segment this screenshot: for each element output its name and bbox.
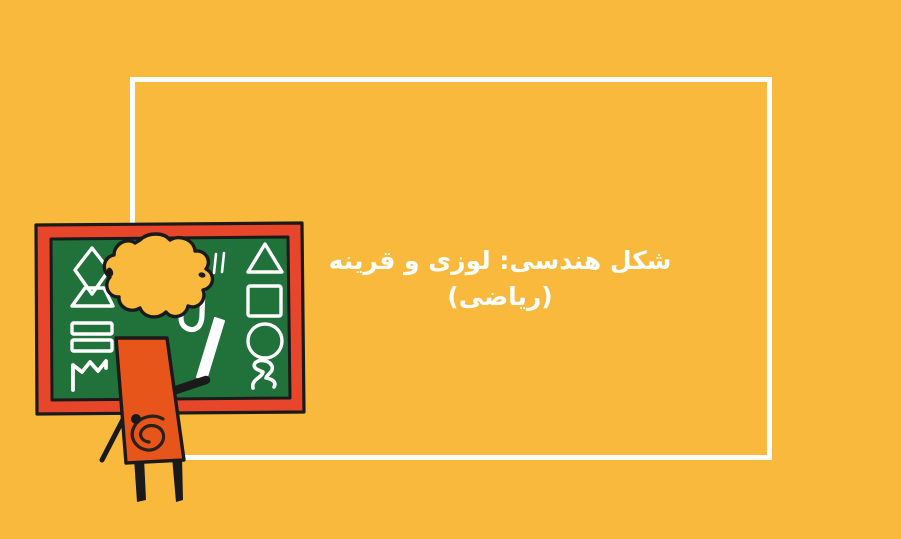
- title-line-2: (ریاضی): [300, 279, 700, 315]
- slide-canvas: شکل هندسی: لوزی و قرینه (ریاضی): [0, 0, 901, 539]
- character-leg-right: [172, 457, 183, 502]
- title-line-1: شکل هندسی: لوزی و قرینه: [300, 243, 700, 279]
- teacher-at-blackboard-illustration: [20, 210, 320, 530]
- slide-title: شکل هندسی: لوزی و قرینه (ریاضی): [300, 243, 700, 314]
- character-leg-left: [134, 458, 146, 502]
